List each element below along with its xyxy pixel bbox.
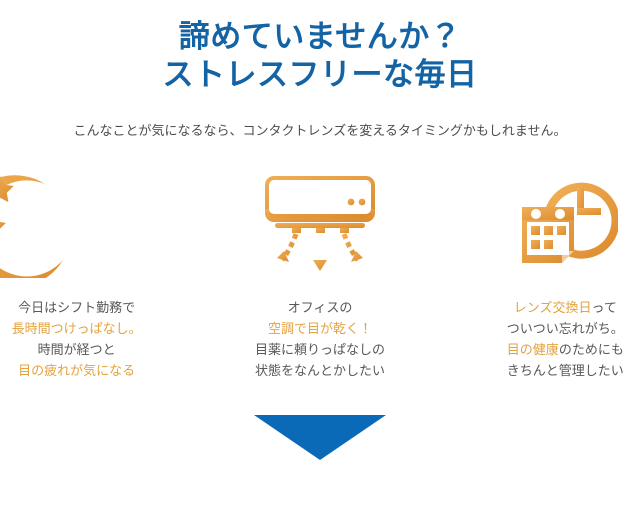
page-title: 諦めていませんか？ ストレスフリーな毎日 [0,0,640,94]
benefit-column-3: レンズ交換日って ついつい忘れがち。 目の健康のためにも きちんと管理したい [427,164,640,381]
caption-line: きちんと管理したい [507,363,624,378]
benefit-column-2: オフィスの 空調で目が乾く！ 目薬に頼りっぱなしの 状態をなんとかしたい [213,164,426,381]
caption-line-highlight: 長時間つけっぱなし。 [12,321,142,336]
caption-line: オフィスの [288,300,353,315]
caption-line-suffix: のためにも [559,342,624,357]
benefit-caption-1: 今日はシフト勤務で 長時間つけっぱなし。 時間が経つと 目の疲れが気になる [12,297,142,381]
benefit-caption-2: オフィスの 空調で目が乾く！ 目薬に頼りっぱなしの 状態をなんとかしたい [255,297,385,381]
caption-line: 時間が経つと [38,342,116,357]
caption-line-highlight: 空調で目が乾く！ [268,321,372,336]
benefit-caption-3: レンズ交換日って ついつい忘れがち。 目の健康のためにも きちんと管理したい [507,297,624,381]
headline-line-2: ストレスフリーな毎日 [0,56,640,94]
crescent-moon-stars-icon [0,164,84,279]
scroll-down-arrow-wrap [0,415,640,460]
caption-line: 今日はシフト勤務で [18,300,135,315]
calendar-clock-icon [512,164,618,279]
caption-line-highlight: 目の疲れが気になる [18,363,135,378]
caption-line-highlight: レンズ交換日 [514,300,592,315]
subtitle-text: こんなことが気になるなら、コンタクトレンズを変えるタイミングかもしれません。 [0,122,640,140]
caption-line-suffix: って [592,300,617,315]
scroll-down-arrow-icon[interactable] [254,415,386,460]
caption-line: ついつい忘れがち。 [507,321,624,336]
caption-line: 状態をなんとかしたい [255,363,385,378]
benefit-column-1: 今日はシフト勤務で 長時間つけっぱなし。 時間が経つと 目の疲れが気になる [0,164,213,381]
caption-line: 目薬に頼りっぱなしの [255,342,385,357]
headline-line-1: 諦めていませんか？ [0,18,640,56]
caption-line-highlight: 目の健康 [507,342,559,357]
air-conditioner-icon [258,164,382,279]
benefit-columns: 今日はシフト勤務で 長時間つけっぱなし。 時間が経つと 目の疲れが気になる [0,164,640,381]
